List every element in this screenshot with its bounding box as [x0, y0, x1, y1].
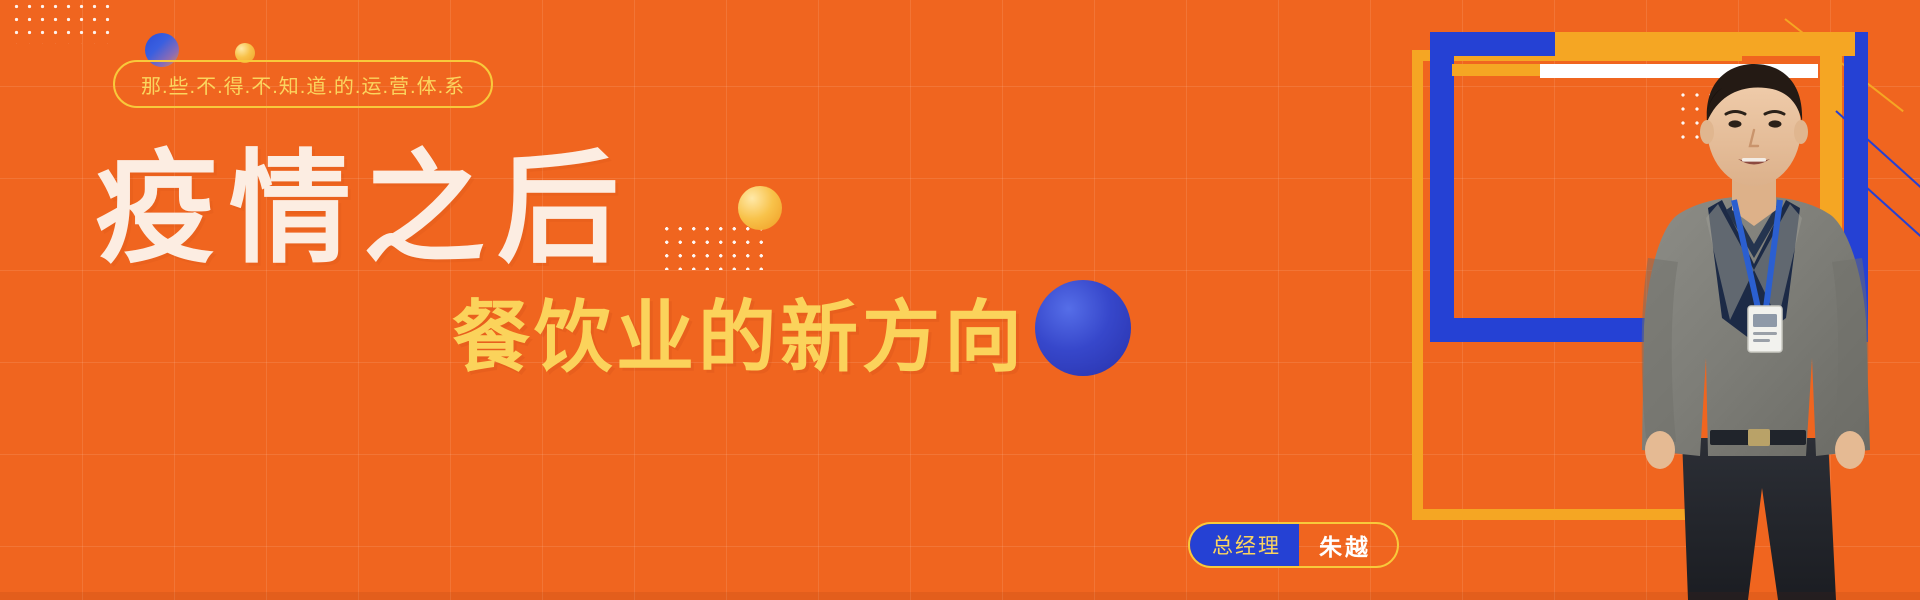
frame-top-orange-bar: [1555, 32, 1855, 56]
speaker-name-label: 朱越: [1299, 524, 1397, 566]
speaker-role-label: 总经理: [1190, 524, 1299, 566]
promotional-banner: 那.些.不.得.不.知.道.的.运.营.体.系 疫情之后 餐饮业的新方向 总经理…: [0, 0, 1920, 600]
dot-pattern-icon: [10, 0, 116, 44]
frame-inner-orange-bar: [1452, 64, 1544, 76]
bottom-edge-shadow: [0, 592, 1920, 600]
subtitle-pill-label: 那.些.不.得.不.知.道.的.运.营.体.系: [141, 70, 465, 99]
dot-pattern-icon: [660, 222, 768, 270]
speaker-photo: [1590, 58, 1920, 600]
speaker-badge: 总经理 朱越: [1188, 522, 1399, 568]
sphere-yellow-medium-icon: [738, 186, 782, 230]
page-title-line2: 餐饮业的新方向: [452, 298, 1026, 376]
page-title-line1: 疫情之后: [95, 148, 631, 270]
sphere-blue-large-icon: [1035, 280, 1131, 376]
subtitle-pill: 那.些.不.得.不.知.道.的.运.营.体.系: [113, 60, 493, 108]
